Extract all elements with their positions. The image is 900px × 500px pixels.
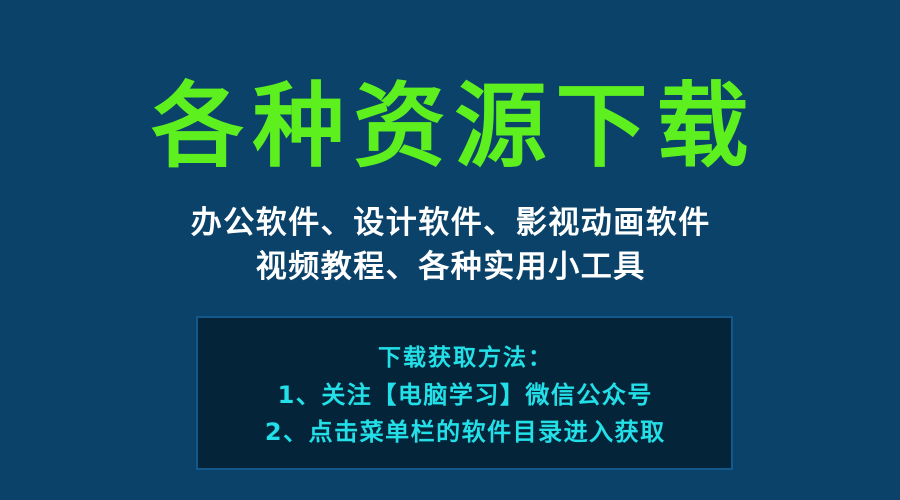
promo-poster: 各种资源下载 办公软件、设计软件、影视动画软件 视频教程、各种实用小工具 下载获…	[0, 0, 900, 500]
subtitle-line-2: 视频教程、各种实用小工具	[254, 250, 646, 284]
instruction-panel: 下载获取方法： 1、关注【电脑学习】微信公众号 2、点击菜单栏的软件目录进入获取	[196, 316, 733, 470]
instruction-step-2: 2、点击菜单栏的软件目录进入获取	[263, 417, 665, 447]
instruction-heading: 下载获取方法：	[376, 343, 553, 373]
instruction-step-1: 1、关注【电脑学习】微信公众号	[276, 380, 653, 410]
page-title: 各种资源下载	[0, 72, 900, 182]
subtitle-line-1: 办公软件、设计软件、影视动画软件	[189, 206, 711, 240]
subtitle-block: 办公软件、设计软件、影视动画软件 视频教程、各种实用小工具	[0, 206, 900, 284]
